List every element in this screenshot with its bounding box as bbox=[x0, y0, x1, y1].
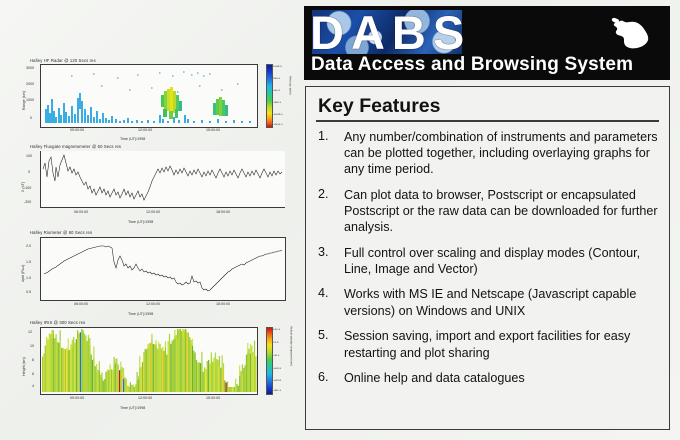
chart-hf-radar-ylabel: Range (km) bbox=[22, 91, 26, 110]
chart-hf-radar-xtick-1: 09:00:00 bbox=[70, 128, 84, 132]
chart-hf-radar-cbtick-5: -2914.1 bbox=[273, 124, 283, 127]
chart-iris-plot-area bbox=[40, 327, 258, 395]
chart-iris-ytick-0: 12 bbox=[28, 330, 32, 334]
chart-hf-radar-xlabel: Time (UT)/1998 bbox=[120, 137, 145, 141]
list-item-text: Works with MS IE and Netscape (Javascrip… bbox=[344, 286, 659, 319]
chart-hf-radar-ytick-2: 1000 bbox=[26, 98, 34, 102]
chart-iris[interactable]: Halley IRIS @ 300 Secs res 12 10 8 6 4 H… bbox=[18, 320, 296, 420]
plot-column: Halley HF Radar @ 120 Secs res bbox=[18, 58, 296, 426]
chart-magnetometer-ytick-0: 100 bbox=[26, 154, 32, 158]
chart-iris-cbtick-5: -381.1 bbox=[273, 390, 281, 393]
chart-riometer-xtick-2: 18:00:00 bbox=[216, 302, 230, 306]
chart-hf-radar-title: Halley HF Radar @ 120 Secs res bbox=[30, 58, 96, 63]
list-item-number: 5. bbox=[318, 328, 344, 361]
chart-hf-radar-xtick-2: 12:00:00 bbox=[138, 128, 152, 132]
chart-iris-cbtick-4: -245.6 bbox=[273, 380, 281, 383]
chart-riometer-xtick-0: 06:00:00 bbox=[74, 302, 88, 306]
chart-hf-radar-colorbar bbox=[266, 64, 273, 128]
dabs-logo-text: DABS bbox=[310, 8, 650, 58]
chart-riometer[interactable]: Halley Riometer @ 60 Secs res 2.0 1.5 1.… bbox=[18, 230, 296, 322]
key-features-heading: Key Features bbox=[318, 95, 440, 118]
chart-hf-radar-ytick-0: 3000 bbox=[26, 66, 34, 70]
chart-hf-radar-plot-area bbox=[40, 64, 258, 128]
chart-riometer-title: Halley Riometer @ 60 Secs res bbox=[30, 230, 92, 235]
chart-riometer-ytick-0: 2.0 bbox=[26, 244, 31, 248]
list-item-text: Can plot data to browser, Postscript or … bbox=[344, 187, 659, 236]
dabs-banner: DABS Data Access and Browsing System bbox=[304, 6, 670, 80]
chart-magnetometer-ytick-3: -200 bbox=[24, 200, 31, 204]
chart-magnetometer-ylabel: X (nT) bbox=[21, 182, 25, 192]
chart-iris-cbtick-3: -108.4 bbox=[273, 368, 281, 371]
chart-hf-radar-cbtick-3: -408.1 bbox=[273, 102, 281, 105]
antarctica-map-icon bbox=[606, 14, 654, 54]
chart-iris-ylabel: Height (km) bbox=[22, 357, 26, 376]
list-item: 1. Any number/combination of instruments… bbox=[306, 129, 669, 178]
chart-hf-radar-cbtick-4: -1008.1 bbox=[273, 114, 283, 117]
chart-iris-ytick-3: 6 bbox=[32, 372, 34, 376]
chart-hf-radar[interactable]: Halley HF Radar @ 120 Secs res bbox=[18, 58, 296, 146]
chart-riometer-ytick-3: 0.5 bbox=[26, 290, 31, 294]
dabs-subtitle: Data Access and Browsing System bbox=[311, 54, 663, 76]
slide-root: Halley HF Radar @ 120 Secs res bbox=[0, 0, 680, 440]
chart-iris-colorbar bbox=[266, 327, 273, 395]
chart-iris-data bbox=[41, 328, 257, 394]
key-features-divider bbox=[316, 120, 659, 122]
chart-magnetometer-xlabel: Time (UT)/1998 bbox=[128, 220, 153, 224]
chart-magnetometer-ytick-1: 0 bbox=[28, 170, 30, 174]
chart-hf-radar-colorbar-label: Velocity (m/s) bbox=[288, 76, 292, 95]
chart-hf-radar-cbtick-1: 594.1 bbox=[273, 78, 280, 81]
chart-riometer-ylabel: dpbI (Flux) bbox=[21, 265, 25, 282]
chart-hf-radar-ytick-1: 2000 bbox=[26, 82, 34, 86]
list-item: 3. Full control over scaling and display… bbox=[306, 245, 669, 278]
chart-hf-radar-ytick-3: 0 bbox=[30, 116, 32, 120]
list-item: 6. Online help and data catalogues bbox=[306, 370, 669, 386]
chart-magnetometer-plot-area bbox=[40, 151, 285, 208]
chart-iris-colorbar-label: Vertical velocity component (m/s) bbox=[289, 326, 292, 366]
chart-iris-cbtick-1: 76.6 bbox=[273, 342, 279, 345]
chart-magnetometer-xtick-1: 12:00:00 bbox=[146, 210, 160, 214]
list-item-number: 1. bbox=[318, 129, 344, 178]
list-item-number: 3. bbox=[318, 245, 344, 278]
list-item-text: Any number/combination of instruments an… bbox=[344, 129, 659, 178]
chart-riometer-xtick-1: 12:00:00 bbox=[146, 302, 160, 306]
chart-iris-cbtick-0: 141.4 bbox=[273, 329, 280, 332]
list-item: 4. Works with MS IE and Netscape (Javasc… bbox=[306, 286, 669, 319]
chart-magnetometer-data bbox=[41, 151, 285, 207]
list-item-number: 4. bbox=[318, 286, 344, 319]
list-item-number: 6. bbox=[318, 370, 344, 386]
list-item: 2. Can plot data to browser, Postscript … bbox=[306, 187, 669, 236]
chart-riometer-xlabel: Time (UT)/1998 bbox=[128, 312, 153, 316]
key-features-panel: Key Features 1. Any number/combination o… bbox=[305, 86, 670, 430]
chart-hf-radar-cbtick-2: 311.4 bbox=[273, 90, 280, 93]
key-features-heading-wrap: Key Features bbox=[306, 87, 669, 122]
chart-iris-xtick-3: 15:00:00 bbox=[206, 396, 220, 400]
chart-iris-ytick-2: 8 bbox=[32, 358, 34, 362]
list-item-text: Session saving, import and export facili… bbox=[344, 328, 659, 361]
chart-riometer-data bbox=[41, 238, 285, 300]
chart-riometer-ytick-2: 1.0 bbox=[26, 276, 31, 280]
chart-hf-radar-xtick-3: 15:00:00 bbox=[206, 128, 220, 132]
list-item-text: Online help and data catalogues bbox=[344, 370, 525, 386]
chart-iris-xtick-1: 09:00:00 bbox=[70, 396, 84, 400]
chart-riometer-ytick-1: 1.5 bbox=[26, 260, 31, 264]
chart-magnetometer-title: Halley Fluxgate magnetometer @ 60 Secs r… bbox=[30, 144, 121, 149]
chart-iris-title: Halley IRIS @ 300 Secs res bbox=[30, 320, 85, 325]
chart-magnetometer-xtick-2: 18:00:00 bbox=[216, 210, 230, 214]
chart-riometer-plot-area bbox=[40, 237, 286, 301]
chart-magnetometer-xtick-0: 06:00:00 bbox=[74, 210, 88, 214]
chart-hf-radar-cbtick-0: 1008.4 bbox=[273, 66, 282, 69]
list-item-number: 2. bbox=[318, 187, 344, 236]
chart-iris-ytick-1: 10 bbox=[30, 344, 34, 348]
list-item: 5. Session saving, import and export fac… bbox=[306, 328, 669, 361]
chart-iris-xlabel: Time (UT)/1998 bbox=[120, 406, 145, 410]
list-item-text: Full control over scaling and display mo… bbox=[344, 245, 659, 278]
chart-hf-radar-data bbox=[41, 65, 257, 127]
chart-magnetometer[interactable]: Halley Fluxgate magnetometer @ 60 Secs r… bbox=[18, 144, 296, 230]
chart-iris-cbtick-2: -30.1 bbox=[273, 355, 280, 358]
chart-iris-xtick-2: 12:00:00 bbox=[138, 396, 152, 400]
key-features-list: 1. Any number/combination of instruments… bbox=[306, 129, 669, 387]
chart-iris-ytick-4: 4 bbox=[32, 384, 34, 388]
